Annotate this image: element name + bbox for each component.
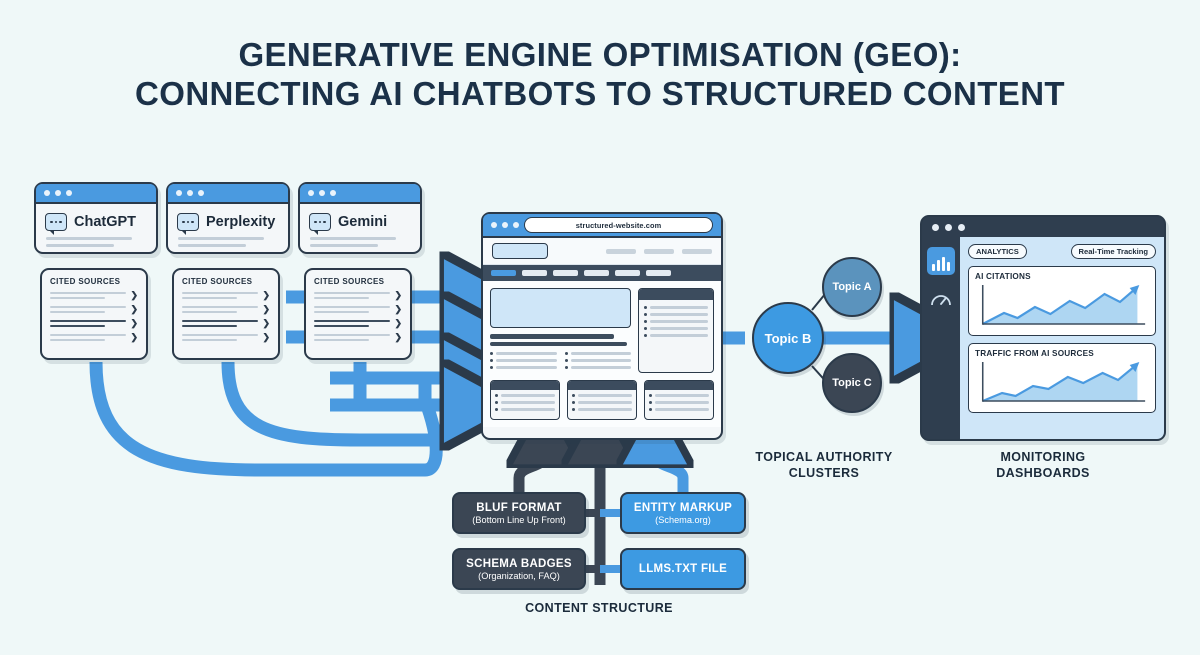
gauge-icon[interactable] — [927, 287, 955, 315]
window-titlebar — [168, 184, 288, 204]
window-dot — [513, 222, 519, 228]
window-dot — [958, 224, 965, 231]
window-dot — [55, 190, 61, 196]
bullet-row — [644, 306, 708, 309]
traffic-from-ai-chart[interactable]: TRAFFIC FROM AI SOURCES — [968, 343, 1156, 413]
cited-source-row[interactable]: ❯ — [314, 291, 402, 300]
dashboard-content: ANALYTICS Real-Time Tracking AI CITATION… — [960, 237, 1164, 441]
chevron-right-icon: ❯ — [130, 291, 138, 300]
realtime-tracking-pill[interactable]: Real-Time Tracking — [1071, 244, 1157, 259]
chevron-right-icon: ❯ — [262, 305, 270, 314]
bullet-row — [649, 394, 709, 397]
chatbot-card-chatgpt[interactable]: ChatGPT — [34, 182, 158, 254]
topical-authority-caption: TOPICAL AUTHORITY CLUSTERS — [728, 450, 920, 481]
bullet-row — [644, 320, 708, 323]
nav-item-active[interactable] — [491, 270, 516, 276]
header-menu-item[interactable] — [682, 249, 712, 254]
gauge-glyph — [930, 291, 952, 307]
box-subtitle: (Bottom Line Up Front) — [472, 515, 565, 525]
analytics-pill[interactable]: ANALYTICS — [968, 244, 1027, 259]
chatbot-name: Perplexity — [206, 214, 275, 230]
chevron-right-icon: ❯ — [130, 305, 138, 314]
box-title: BLUF FORMAT — [476, 502, 562, 514]
bullet-row — [565, 366, 632, 369]
monitoring-dashboards-caption: MONITORING DASHBOARDS — [947, 450, 1139, 481]
area-chart-glyph — [975, 359, 1149, 405]
box-subtitle: (Organization, FAQ) — [478, 571, 560, 581]
chatbot-name: Gemini — [338, 214, 387, 230]
site-body — [483, 281, 721, 380]
bullet-row — [495, 394, 555, 397]
box-subtitle: (Schema.org) — [655, 515, 711, 525]
content-box-llms-txt-file[interactable]: LLMS.TXT FILE — [620, 548, 746, 590]
cited-source-row[interactable]: ❯ — [182, 291, 270, 300]
area-chart-glyph — [975, 282, 1149, 328]
caption-line-1: TOPICAL AUTHORITY — [728, 450, 920, 466]
nav-item[interactable] — [615, 270, 640, 276]
chevron-right-icon: ❯ — [130, 333, 138, 342]
subheading-line — [490, 342, 627, 346]
website-mockup[interactable]: structured-website.com — [481, 212, 723, 440]
chat-bubble-icon — [177, 213, 199, 231]
ai-citations-chart[interactable]: AI CITATIONS — [968, 266, 1156, 336]
cited-source-row-highlighted[interactable]: ❯ — [50, 319, 138, 328]
bullet-row — [644, 334, 708, 337]
topic-label: Topic A — [832, 281, 871, 293]
chat-bubble-icon — [309, 213, 331, 231]
chevron-right-icon: ❯ — [130, 319, 138, 328]
site-header — [483, 238, 721, 265]
bullet-row — [644, 327, 708, 330]
chevron-right-icon: ❯ — [262, 333, 270, 342]
hero-block — [490, 288, 631, 328]
window-dot — [932, 224, 939, 231]
placeholder-lines — [300, 231, 420, 247]
diagram-canvas: GENERATIVE ENGINE OPTIMISATION (GEO): CO… — [0, 0, 1200, 655]
site-logo — [492, 243, 548, 259]
cited-source-row-highlighted[interactable]: ❯ — [182, 319, 270, 328]
caption-line-2: DASHBOARDS — [947, 466, 1139, 482]
box-title: SCHEMA BADGES — [466, 558, 572, 570]
topic-node-b[interactable]: Topic B — [752, 302, 824, 374]
nav-item[interactable] — [584, 270, 609, 276]
caption-line-1: MONITORING — [947, 450, 1139, 466]
topic-label: Topic B — [765, 331, 812, 346]
bullet-row — [644, 313, 708, 316]
window-dot — [187, 190, 193, 196]
chatbot-name: ChatGPT — [74, 214, 136, 230]
cited-sources-title: CITED SOURCES — [182, 277, 270, 286]
chevron-right-icon: ❯ — [262, 291, 270, 300]
bar-chart-icon[interactable] — [927, 247, 955, 275]
caption-line-2: CLUSTERS — [728, 466, 920, 482]
bullet-row — [572, 408, 632, 411]
header-menu-item[interactable] — [644, 249, 674, 254]
dashboard-titlebar — [922, 217, 1164, 237]
cited-sources-title: CITED SOURCES — [314, 277, 402, 286]
site-navbar — [483, 265, 721, 281]
bullet-row — [495, 401, 555, 404]
cited-sources-title: CITED SOURCES — [50, 277, 138, 286]
window-dot — [319, 190, 325, 196]
window-dot — [502, 222, 508, 228]
cited-sources-panel-perplexity[interactable]: CITED SOURCES ❯ ❯ ❯ ❯ — [172, 268, 280, 360]
cited-source-row[interactable]: ❯ — [314, 333, 402, 342]
placeholder-lines — [36, 231, 156, 247]
chevron-right-icon: ❯ — [394, 291, 402, 300]
topic-node-a[interactable]: Topic A — [822, 257, 882, 317]
box-title: ENTITY MARKUP — [634, 502, 732, 514]
chatbot-card-gemini[interactable]: Gemini — [298, 182, 422, 254]
content-card[interactable] — [490, 380, 560, 420]
monitoring-dashboard[interactable]: ANALYTICS Real-Time Tracking AI CITATION… — [920, 215, 1166, 441]
chat-bubble-icon — [45, 213, 67, 231]
chevron-right-icon: ❯ — [394, 319, 402, 328]
cited-source-row[interactable]: ❯ — [50, 291, 138, 300]
nav-item[interactable] — [553, 270, 578, 276]
title-line-1: GENERATIVE ENGINE OPTIMISATION (GEO): — [0, 36, 1200, 75]
title-line-2: CONNECTING AI CHATBOTS TO STRUCTURED CON… — [0, 75, 1200, 114]
bullet-row — [565, 359, 632, 362]
cited-source-row[interactable]: ❯ — [50, 333, 138, 342]
bullet-row — [572, 401, 632, 404]
content-card-header — [568, 381, 636, 390]
content-structure-caption: CONTENT STRUCTURE — [452, 601, 746, 617]
chevron-right-icon: ❯ — [394, 305, 402, 314]
topic-label: Topic C — [832, 377, 872, 389]
window-titlebar — [300, 184, 420, 204]
dashboard-sidebar — [922, 237, 960, 441]
page-title: GENERATIVE ENGINE OPTIMISATION (GEO): CO… — [0, 36, 1200, 114]
site-card-row — [483, 380, 721, 427]
cited-sources-panel-chatgpt[interactable]: CITED SOURCES ❯ ❯ ❯ ❯ — [40, 268, 148, 360]
browser-titlebar: structured-website.com — [483, 214, 721, 238]
nav-item[interactable] — [522, 270, 547, 276]
bullet-row — [490, 366, 557, 369]
window-dot — [198, 190, 204, 196]
window-dot — [330, 190, 336, 196]
content-card[interactable] — [644, 380, 714, 420]
window-titlebar — [36, 184, 156, 204]
bullet-row — [572, 394, 632, 397]
window-dot — [44, 190, 50, 196]
chart-title: AI CITATIONS — [975, 272, 1149, 281]
chart-title: TRAFFIC FROM AI SOURCES — [975, 349, 1149, 358]
sidebar-widget — [638, 288, 714, 373]
content-card-header — [645, 381, 713, 390]
bullet-row — [490, 352, 557, 355]
window-dot — [176, 190, 182, 196]
window-dot — [491, 222, 497, 228]
placeholder-lines — [168, 231, 288, 247]
url-bar[interactable]: structured-website.com — [524, 217, 713, 233]
cited-source-row[interactable]: ❯ — [182, 305, 270, 314]
cited-source-row-highlighted[interactable]: ❯ — [314, 319, 402, 328]
window-dot — [945, 224, 952, 231]
chatbot-card-perplexity[interactable]: Perplexity — [166, 182, 290, 254]
bullet-row — [490, 359, 557, 362]
cited-source-row[interactable]: ❯ — [314, 305, 402, 314]
content-card-header — [491, 381, 559, 390]
chevron-right-icon: ❯ — [394, 333, 402, 342]
cited-source-row[interactable]: ❯ — [182, 333, 270, 342]
sidebar-widget-header — [639, 289, 713, 300]
topic-node-c[interactable]: Topic C — [822, 353, 882, 413]
heading-line — [490, 334, 614, 339]
content-box-entity-markup[interactable]: ENTITY MARKUP (Schema.org) — [620, 492, 746, 534]
bullet-row — [649, 408, 709, 411]
box-title: LLMS.TXT FILE — [639, 563, 727, 575]
window-dot — [308, 190, 314, 196]
cited-source-row[interactable]: ❯ — [50, 305, 138, 314]
window-dot — [66, 190, 72, 196]
header-menu-item[interactable] — [606, 249, 636, 254]
bullet-row — [495, 408, 555, 411]
nav-item[interactable] — [646, 270, 671, 276]
content-box-bluf-format[interactable]: BLUF FORMAT (Bottom Line Up Front) — [452, 492, 586, 534]
chevron-right-icon: ❯ — [262, 319, 270, 328]
bullet-row — [649, 401, 709, 404]
cited-sources-panel-gemini[interactable]: CITED SOURCES ❯ ❯ ❯ ❯ — [304, 268, 412, 360]
content-box-schema-badges[interactable]: SCHEMA BADGES (Organization, FAQ) — [452, 548, 586, 590]
content-card[interactable] — [567, 380, 637, 420]
bullet-row — [565, 352, 632, 355]
